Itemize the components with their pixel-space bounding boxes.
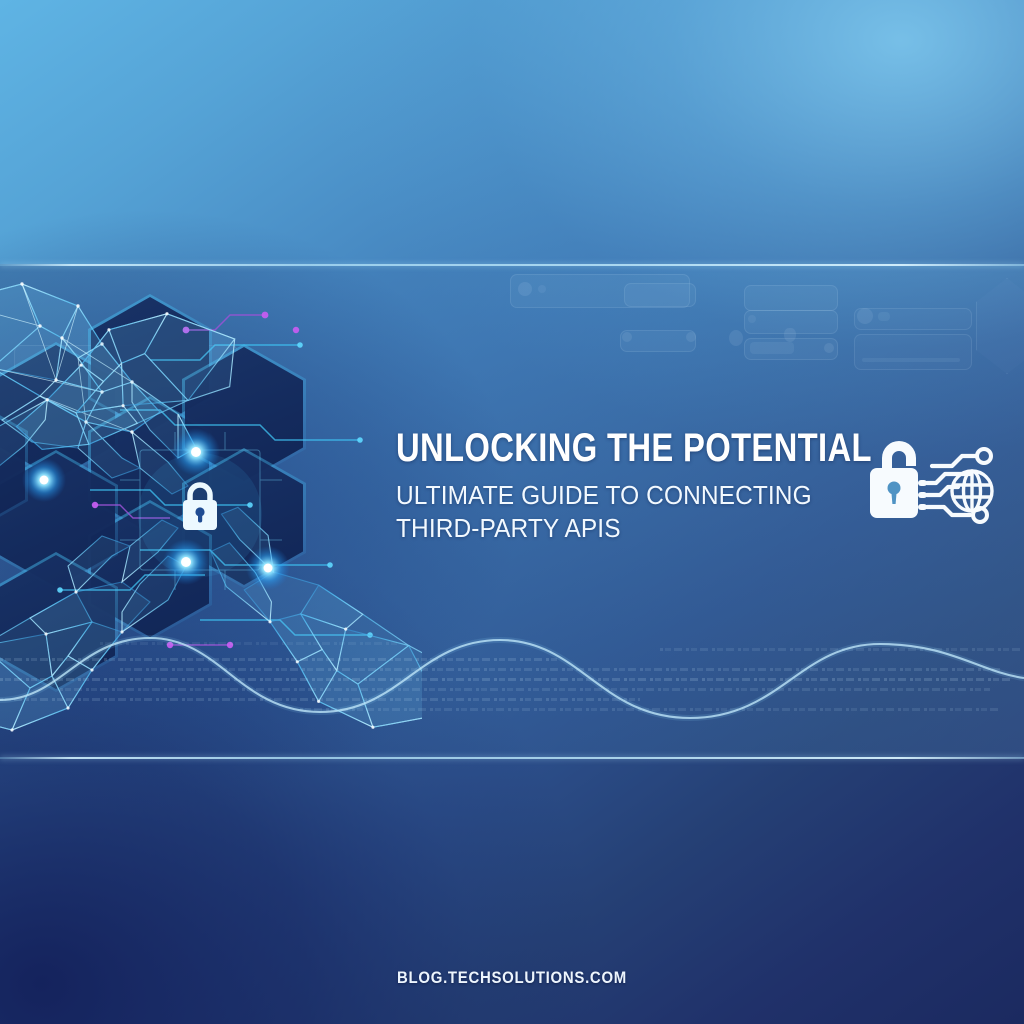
page-title: UNLOCKING THE POTENTIAL [396,428,781,468]
ui-bar [878,312,890,321]
footer-url: BLOG.TECHSOLUTIONS.COM [61,968,962,988]
page-subtitle-line2: THIRD-PARTY APIS [396,513,847,546]
ui-dot [518,282,532,296]
ui-dot [686,332,696,342]
api-security-icon [866,436,1000,540]
ui-panel [620,330,696,352]
ui-bar [862,358,960,362]
divider-bottom [0,757,1024,759]
ui-bar [538,285,546,293]
ui-dot [857,308,873,324]
divider-top [0,264,1024,266]
ui-dot [824,343,834,353]
ui-dot [729,330,743,346]
ui-hexagon [976,278,1024,374]
page-subtitle: ULTIMATE GUIDE TO CONNECTING THIRD-PARTY… [396,480,847,546]
open-padlock-icon [870,441,927,518]
ui-bar [750,342,794,354]
ui-bar [748,315,756,323]
ui-panel [854,334,972,370]
ui-panel [624,283,696,307]
ui-dot [622,332,632,342]
text-block: UNLOCKING THE POTENTIAL ULTIMATE GUIDE T… [396,428,866,546]
globe-icon [952,471,992,511]
waveform-line [0,600,1024,760]
ui-panel [744,285,838,311]
page-subtitle-line1: ULTIMATE GUIDE TO CONNECTING [396,480,847,513]
banner-canvas: UNLOCKING THE POTENTIAL ULTIMATE GUIDE T… [0,0,1024,1024]
ui-dot [784,328,796,342]
